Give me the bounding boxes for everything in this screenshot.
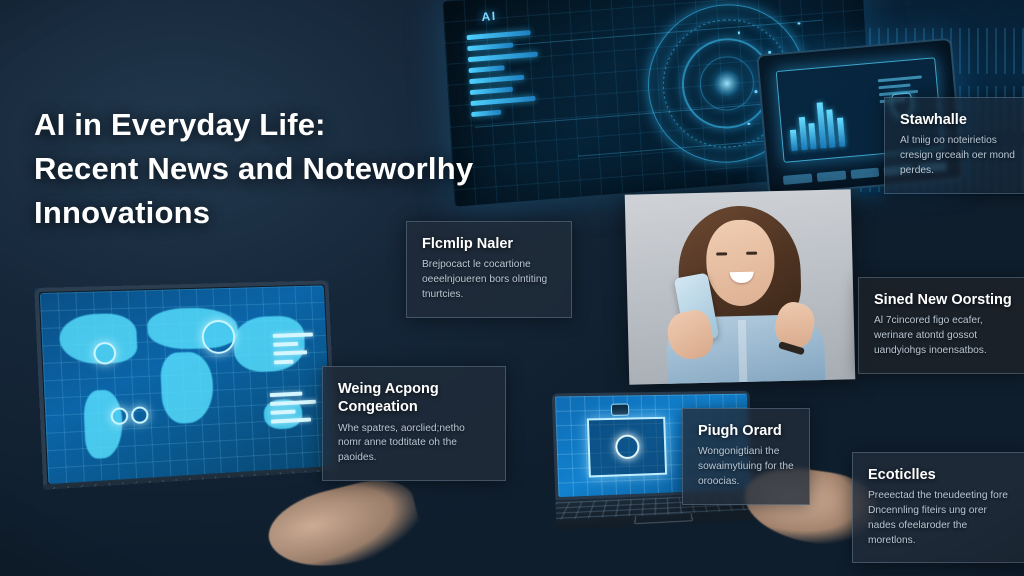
info-card-sined: Sined New Oorsting Al 7cincored figo eca… [858,277,1024,374]
info-card-weing: Weing Acpong Congeation Whe spatres, aor… [322,366,506,481]
camera-icon [611,403,630,415]
map-stat-block-top [273,333,315,370]
info-card-ecoticlles: Ecoticlles Preeectad the tneudeeting for… [852,452,1024,563]
processor-chip-graphic [587,417,667,478]
info-card-title: Ecoticlles [868,466,1012,484]
info-card-title: Weing Acpong Congeation [338,380,490,417]
info-card-title: Piugh Orard [698,422,794,440]
info-card-title: Stawhalle [900,111,1024,129]
world-map-laptop-image [34,280,337,489]
woman-with-phone-photo [625,189,856,384]
info-card-title: Flcmlip Naler [422,235,556,253]
infographic-canvas: AI [0,0,1024,576]
title-line-2: Recent News and Noteworlhy [34,147,534,191]
world-map-screen [40,285,332,484]
page-title: AI in Everyday Life: Recent News and Not… [34,103,534,235]
info-card-body: Brejpocact le cocartione oeeelnjoueren b… [422,258,556,302]
info-card-body: Whe spatres, aorclied;netho nomr anne to… [338,422,490,466]
info-card-body: Al 7cincored figo ecafer, werinare atont… [874,314,1012,358]
info-card-flcmlip: Flcmlip Naler Brejpocact le cocartione o… [406,221,572,318]
info-card-body: Al tniig oo noteirietios cresign grceaih… [900,134,1024,178]
info-card-title: Sined New Oorsting [874,291,1012,309]
ai-screen-label: AI [481,9,497,24]
info-card-body: Wongonigtiani the sowaimytiuing for the … [698,445,794,489]
hand-on-keyboard-left [261,471,425,576]
info-card-piugh: Piugh Orard Wongonigtiani the sowaimytiu… [682,408,810,505]
trackpad [634,513,693,524]
info-card-body: Preeectad the tneudeeting fore Dncennlin… [868,489,1012,548]
tablet-bar-chart [787,93,845,151]
title-line-1: AI in Everyday Life: [34,103,534,147]
info-card-stawhalle: Stawhalle Al tniig oo noteirietios cresi… [884,97,1024,194]
map-stat-block-bottom [270,391,317,429]
